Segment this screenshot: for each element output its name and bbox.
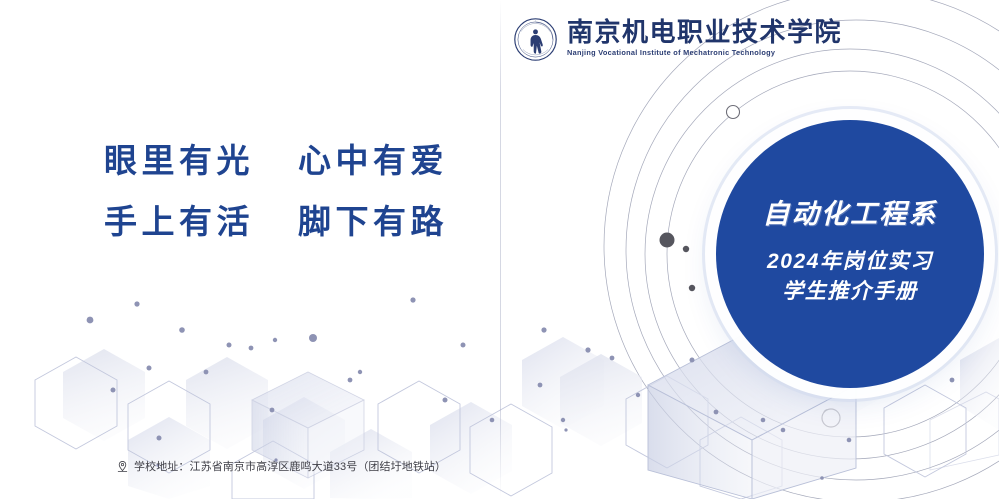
school-name-cn: 南京机电职业技术学院: [567, 20, 842, 47]
school-address: 学校地址：江苏省南京市高淳区鹿鸣大道33号（团结圩地铁站）: [116, 458, 446, 474]
slogan-block: 眼里有光 心中有爱 手上有活 脚下有路: [104, 146, 448, 240]
badge-subtitle-line2: 学生推介手册: [782, 277, 918, 307]
school-address-text: 学校地址：江苏省南京市高淳区鹿鸣大道33号（团结圩地铁站）: [134, 458, 446, 474]
slogan-line2-left: 手上有活: [104, 207, 254, 240]
slogan-line1-left: 眼里有光: [104, 146, 254, 179]
svg-text:·: ·: [535, 20, 536, 23]
slogan-row-1: 眼里有光 心中有爱: [104, 146, 448, 179]
school-name-en: Nanjing Vocational Institute of Mechatro…: [567, 47, 848, 59]
badge-department-title: 自动化工程系: [762, 201, 937, 228]
title-badge-circle: 自动化工程系 2024年岗位实习 学生推介手册: [716, 120, 984, 388]
location-pin-icon: [116, 460, 129, 473]
badge-subtitle-line1: 2024年岗位实习: [767, 247, 933, 277]
school-logo: · 南京机电职业技术学院 Nanjing Vocational Institut…: [513, 17, 842, 62]
slogan-row-2: 手上有活 脚下有路: [104, 207, 448, 240]
iso-cube-right: [930, 392, 999, 470]
poster-canvas: · 南京机电职业技术学院 Nanjing Vocational Institut…: [0, 0, 999, 499]
slogan-line1-right: 心中有爱: [298, 146, 448, 179]
school-seal-icon: ·: [513, 17, 558, 62]
vertical-divider: [500, 0, 501, 499]
slogan-line2-right: 脚下有路: [298, 207, 448, 240]
